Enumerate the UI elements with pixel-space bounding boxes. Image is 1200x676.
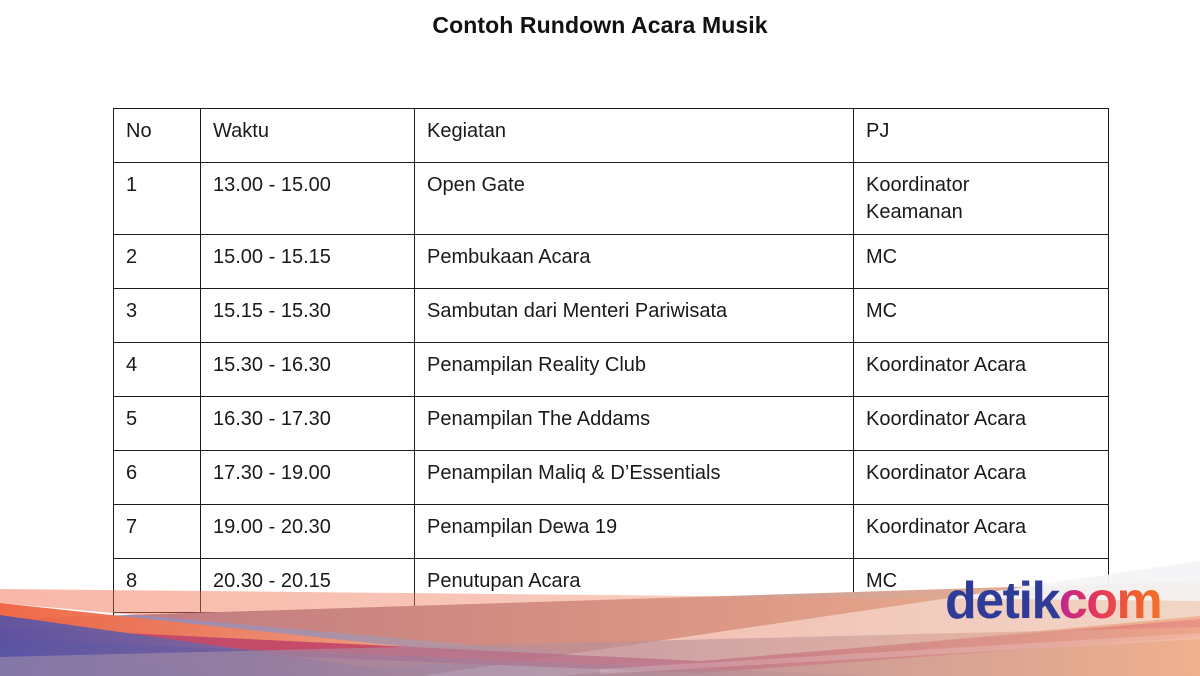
column-header-kegiatan: Kegiatan bbox=[415, 109, 854, 163]
logo-text-detik: detik bbox=[945, 572, 1059, 630]
cell-no: 9 bbox=[114, 613, 201, 667]
cell-pj: Koordinator Acara bbox=[854, 451, 1109, 505]
cell-kegiatan: Penampilan The Addams bbox=[415, 397, 854, 451]
cell-no: 5 bbox=[114, 397, 201, 451]
cell-waktu: 15.00 - 15.15 bbox=[201, 235, 415, 289]
table-header-row: No Waktu Kegiatan PJ bbox=[114, 109, 1109, 163]
detikcom-logo: detikcom bbox=[945, 575, 1161, 627]
cell-waktu: 15.15 - 15.30 bbox=[201, 289, 415, 343]
cell-pj: Koordinator Keamanan bbox=[854, 163, 1109, 235]
cell-waktu: 17.30 - 19.00 bbox=[201, 451, 415, 505]
logo-text-com: com bbox=[1059, 572, 1161, 630]
table-row: 7 19.00 - 20.30 Penampilan Dewa 19 Koord… bbox=[114, 505, 1109, 559]
cell-waktu: 19.00 - 20.30 bbox=[201, 505, 415, 559]
table-row: 1 13.00 - 15.00 Open Gate Koordinator Ke… bbox=[114, 163, 1109, 235]
cell-kegiatan: Clear Area bbox=[415, 613, 854, 667]
cell-kegiatan: Penutupan Acara bbox=[415, 559, 854, 613]
table-row: 4 15.30 - 16.30 Penampilan Reality Club … bbox=[114, 343, 1109, 397]
cell-pj: Koordinator Acara bbox=[854, 505, 1109, 559]
cell-pj: Koordinator Acara bbox=[854, 397, 1109, 451]
cell-kegiatan: Penampilan Reality Club bbox=[415, 343, 854, 397]
column-header-pj: PJ bbox=[854, 109, 1109, 163]
cell-pj: Koordinator Acara bbox=[854, 343, 1109, 397]
cell-pj: MC bbox=[854, 289, 1109, 343]
cell-kegiatan: Penampilan Maliq & D’Essentials bbox=[415, 451, 854, 505]
cell-pj-line1: Koordinator bbox=[866, 174, 969, 196]
cell-no: 1 bbox=[114, 163, 201, 235]
cell-kegiatan: Penampilan Dewa 19 bbox=[415, 505, 854, 559]
cell-no: 6 bbox=[114, 451, 201, 505]
cell-waktu: 16.30 - 17.30 bbox=[201, 397, 415, 451]
column-header-waktu: Waktu bbox=[201, 109, 415, 163]
cell-kegiatan: Open Gate bbox=[415, 163, 854, 235]
cell-pj-line2: Keamanan bbox=[866, 199, 1108, 226]
cell-waktu: 15.30 - 16.30 bbox=[201, 343, 415, 397]
table-row: 6 17.30 - 19.00 Penampilan Maliq & D’Ess… bbox=[114, 451, 1109, 505]
column-header-no: No bbox=[114, 109, 201, 163]
table-row: 5 16.30 - 17.30 Penampilan The Addams Ko… bbox=[114, 397, 1109, 451]
table-row: 2 15.00 - 15.15 Pembukaan Acara MC bbox=[114, 235, 1109, 289]
cell-kegiatan: Sambutan dari Menteri Pariwisata bbox=[415, 289, 854, 343]
cell-waktu: 20.45 - 21.00 bbox=[201, 613, 415, 667]
slide-canvas: Contoh Rundown Acara Musik No Waktu Kegi… bbox=[0, 0, 1200, 676]
cell-no: 2 bbox=[114, 235, 201, 289]
cell-waktu: 20.30 - 20.15 bbox=[201, 559, 415, 613]
cell-no: 3 bbox=[114, 289, 201, 343]
cell-kegiatan: Pembukaan Acara bbox=[415, 235, 854, 289]
cell-waktu: 13.00 - 15.00 bbox=[201, 163, 415, 235]
page-title: Contoh Rundown Acara Musik bbox=[0, 12, 1200, 39]
cell-no: 4 bbox=[114, 343, 201, 397]
table-row: 3 15.15 - 15.30 Sambutan dari Menteri Pa… bbox=[114, 289, 1109, 343]
cell-no: 8 bbox=[114, 559, 201, 613]
cell-pj: MC bbox=[854, 235, 1109, 289]
cell-no: 7 bbox=[114, 505, 201, 559]
